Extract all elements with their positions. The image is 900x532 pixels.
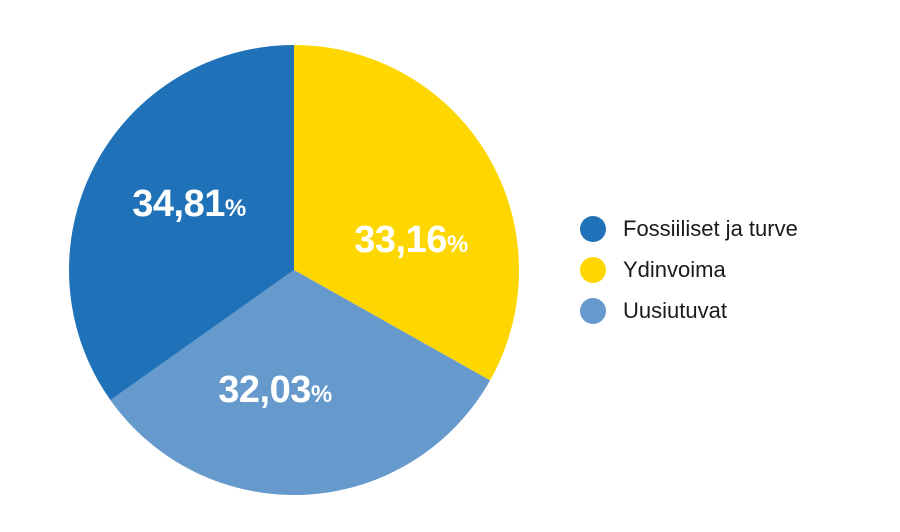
legend-item-label: Fossiiliset ja turve [623,218,798,240]
legend-swatch-icon [580,257,606,283]
legend-item-fossiiliset-ja-turve[interactable]: Fossiiliset ja turve [580,208,880,249]
chart-legend: Fossiiliset ja turve Ydinvoima Uusiutuva… [580,208,880,331]
legend-swatch-icon [580,298,606,324]
legend-item-label: Uusiutuvat [623,300,727,322]
legend-swatch-icon [580,216,606,242]
legend-item-label: Ydinvoima [623,259,726,281]
pie-slices [69,45,519,495]
legend-item-uusiutuvat[interactable]: Uusiutuvat [580,290,880,331]
pie-chart-figure: 34,81% 33,16% 32,03% Fossiiliset ja turv… [0,0,900,532]
legend-item-ydinvoima[interactable]: Ydinvoima [580,249,880,290]
